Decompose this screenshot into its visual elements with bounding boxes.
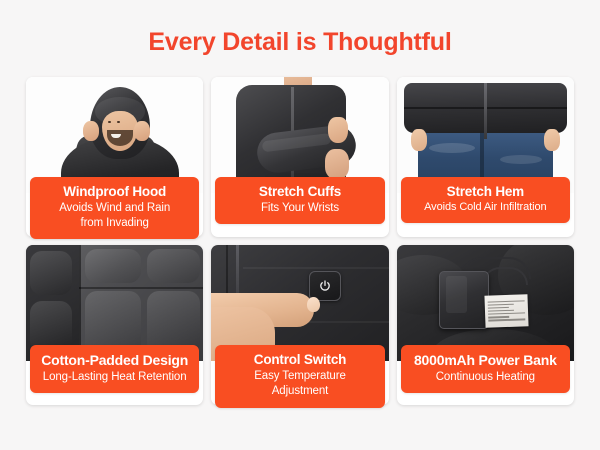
- feature-image-power-bank: [397, 245, 574, 361]
- instruction-card: [485, 294, 529, 327]
- feature-grid: Windproof Hood Avoids Wind and Rain from…: [0, 55, 600, 405]
- feature-card-windproof-hood[interactable]: Windproof Hood Avoids Wind and Rain from…: [26, 77, 203, 237]
- feature-title: Windproof Hood: [36, 184, 193, 200]
- feature-image-stretch-cuffs: [211, 77, 388, 193]
- feature-image-stretch-hem: [397, 77, 574, 193]
- feature-subtitle-line1: Fits Your Wrists: [221, 201, 378, 215]
- feature-image-cotton-padded-design: [26, 245, 203, 361]
- feature-title: 8000mAh Power Bank: [407, 352, 564, 369]
- feature-card-cotton-padded-design[interactable]: Cotton-Padded Design Long-Lasting Heat R…: [26, 245, 203, 405]
- feature-grid-page: Every Detail is Thoughtful: [0, 0, 600, 450]
- feature-title: Cotton-Padded Design: [36, 352, 193, 369]
- feature-card-control-switch[interactable]: Control Switch Easy Temperature Adjustme…: [211, 245, 388, 405]
- feature-caption-stretch-hem: Stretch Hem Avoids Cold Air Infiltration: [401, 177, 570, 223]
- power-bank-device: [439, 271, 489, 329]
- feature-subtitle-line1: Avoids Wind and Rain: [36, 201, 193, 215]
- feature-subtitle-line1: Avoids Cold Air Infiltration: [407, 201, 564, 214]
- feature-card-stretch-hem[interactable]: Stretch Hem Avoids Cold Air Infiltration: [397, 77, 574, 237]
- feature-card-stretch-cuffs[interactable]: Stretch Cuffs Fits Your Wrists: [211, 77, 388, 237]
- feature-subtitle-line2: from Invading: [36, 216, 193, 230]
- page-title: Every Detail is Thoughtful: [0, 0, 600, 55]
- feature-title: Stretch Cuffs: [221, 184, 378, 200]
- feature-subtitle-line1: Continuous Heating: [407, 370, 564, 384]
- feature-subtitle-line1: Long-Lasting Heat Retention: [36, 370, 193, 384]
- feature-image-control-switch: [211, 245, 388, 361]
- feature-caption-windproof-hood: Windproof Hood Avoids Wind and Rain from…: [30, 177, 199, 239]
- feature-subtitle-line1: Easy Temperature: [221, 369, 378, 383]
- feature-caption-stretch-cuffs: Stretch Cuffs Fits Your Wrists: [215, 177, 384, 224]
- feature-caption-cotton-padded-design: Cotton-Padded Design Long-Lasting Heat R…: [30, 345, 199, 393]
- feature-title: Stretch Hem: [407, 184, 564, 200]
- feature-image-windproof-hood: [26, 77, 203, 193]
- feature-subtitle-line2: Adjustment: [221, 384, 378, 398]
- feature-title: Control Switch: [221, 352, 378, 368]
- feature-card-power-bank[interactable]: 8000mAh Power Bank Continuous Heating: [397, 245, 574, 405]
- feature-caption-control-switch: Control Switch Easy Temperature Adjustme…: [215, 345, 384, 408]
- feature-caption-power-bank: 8000mAh Power Bank Continuous Heating: [401, 345, 570, 393]
